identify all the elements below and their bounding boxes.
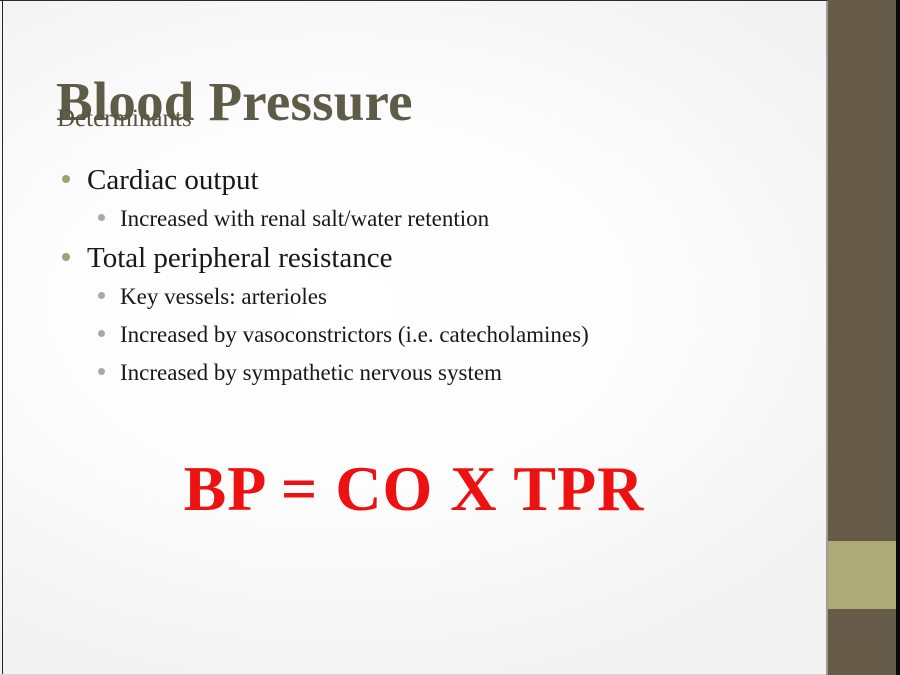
bullet-dot-icon bbox=[62, 253, 70, 261]
list-item: Increased by vasoconstrictors (i.e. cate… bbox=[98, 316, 796, 354]
list-item-label: Total peripheral resistance bbox=[87, 238, 393, 278]
list-item: Key vessels: arterioles bbox=[98, 278, 796, 316]
list-item-label: Increased with renal salt/water retentio… bbox=[120, 200, 489, 238]
slide-canvas: Blood Pressure Determinants Cardiac outp… bbox=[0, 0, 900, 675]
slide-left-border bbox=[2, 0, 3, 675]
list-item-label: Increased by sympathetic nervous system bbox=[120, 354, 502, 392]
list-item: Increased by sympathetic nervous system bbox=[98, 354, 796, 392]
list-item-label: Cardiac output bbox=[87, 160, 259, 200]
list-item: Increased with renal salt/water retentio… bbox=[98, 200, 796, 238]
bullet-dot-icon bbox=[98, 330, 105, 337]
page-subtitle: Determinants bbox=[57, 105, 192, 133]
list-item: Total peripheral resistance bbox=[62, 238, 796, 278]
slide-top-border bbox=[0, 0, 900, 1]
khaki-accent-block bbox=[828, 541, 896, 609]
list-item-label: Increased by vasoconstrictors (i.e. cate… bbox=[120, 316, 589, 354]
bullet-dot-icon bbox=[62, 175, 70, 183]
bullet-dot-icon bbox=[98, 368, 105, 375]
list-item: Cardiac output bbox=[62, 160, 796, 200]
list-item-label: Key vessels: arterioles bbox=[120, 278, 327, 316]
formula-text: BP = CO X TPR bbox=[0, 452, 828, 526]
right-edge-border bbox=[896, 0, 900, 675]
bullet-list: Cardiac outputIncreased with renal salt/… bbox=[56, 160, 796, 392]
bullet-dot-icon bbox=[98, 214, 105, 221]
bullet-dot-icon bbox=[98, 292, 105, 299]
